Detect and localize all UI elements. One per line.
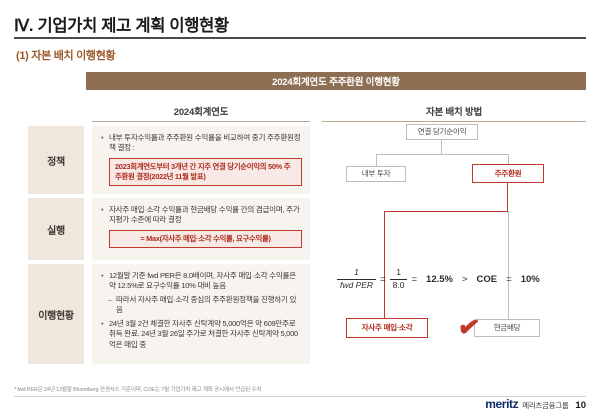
row-label-status: 이행현황 <box>28 264 84 364</box>
bullet-subtext: 따라서 자사주 매입·소각 중심의 주주환원정책을 진행하기 있음 <box>100 295 302 316</box>
equals-sign-3: = <box>506 274 512 285</box>
column-header-left: 2024회계연도 <box>92 104 310 122</box>
value-buyback-yield: 12.5% <box>426 274 453 285</box>
formula-row: 1 fwd PER = 1 8.0 = 12.5% > COE = 10% <box>337 262 573 296</box>
fraction2-numerator: 1 <box>393 268 404 278</box>
section-banner: 2024회계연도 주주환원 이행현황 <box>86 72 586 90</box>
bullet-text: 24년 3월 2건 체결한 자사주 신탁계약 5,000억은 약 609만주로 … <box>100 319 302 350</box>
capital-allocation-diagram: 연결 당기순이익 내부 투자 주주환원 자사주 매입·소각 현금배당 <box>322 106 586 376</box>
node-shareholder-return: 주주환원 <box>472 164 544 183</box>
content-box-execution: 자사주 매입·소각 수익률과 현금배당 수익률 간의 겸급이며, 주가 지평가 … <box>92 198 310 260</box>
content-box-status: 12월말 기준 fwd PER은 8.0배이며, 자사주 매입·소각 수익률은 … <box>92 264 310 364</box>
page-title: Ⅳ. 기업가치 제고 계획 이행현황 <box>14 12 229 36</box>
connector-horizontal-return <box>384 211 508 212</box>
connector-horizontal-split <box>376 154 508 155</box>
bullet-text: 12월말 기준 fwd PER은 8.0배이며, 자사주 매입·소각 수익률은 … <box>100 271 302 292</box>
checkmark-icon: ✔ <box>456 311 482 345</box>
highlight-box: = Max(자사주 매입·소각 수익률, 요구수익률) <box>109 230 302 248</box>
node-retained-earnings: 연결 당기순이익 <box>406 124 478 140</box>
fraction-numeric: 1 8.0 <box>390 268 408 291</box>
label-coe: COE <box>477 274 498 285</box>
connector-vertical-top <box>441 140 442 154</box>
fraction2-denominator: 8.0 <box>390 281 408 291</box>
highlight-box: 2023회계연도부터 3개년 간 지주 연결 당기순이익의 50% 주주환원 결… <box>109 158 302 186</box>
column-header-left-rule <box>92 121 310 122</box>
node-cash-dividend: 현금배당 <box>474 319 540 337</box>
row-label-execution: 실행 <box>28 198 84 260</box>
fraction-fwd-per: 1 fwd PER <box>337 268 376 291</box>
connector-vertical-dividend <box>508 211 509 243</box>
logo-korean-text: 메리츠금융그룹 <box>522 400 568 411</box>
column-header-left-label: 2024회계연도 <box>174 107 229 118</box>
node-buyback-cancel: 자사주 매입·소각 <box>346 318 428 338</box>
connector-vertical-left <box>376 154 377 166</box>
bullet-text: 내부 투자수익률과 주주환원 수익률을 비교하여 중기 주주환원정책 결정 : <box>100 133 302 154</box>
bullet-text: 자사주 매입·소각 수익률과 현금배당 수익률 간의 겸급이며, 주가 지평가 … <box>100 205 302 226</box>
equals-sign-2: = <box>411 274 417 285</box>
connector-vertical-buyback <box>384 211 385 243</box>
title-divider <box>14 37 586 39</box>
section-subtitle: (1) 자본 배치 이행현황 <box>16 47 115 63</box>
logo-meritz-text: meritz <box>485 397 518 411</box>
fraction-denominator: fwd PER <box>337 281 376 291</box>
row-label-policy: 정책 <box>28 126 84 194</box>
page-number: 10 <box>575 400 586 411</box>
greater-than-sign: > <box>462 274 468 285</box>
footer-logo: meritz 메리츠금융그룹 10 <box>485 397 586 411</box>
node-internal-investment: 내부 투자 <box>346 166 406 182</box>
value-coe: 10% <box>521 274 540 285</box>
fraction-numerator: 1 <box>351 268 362 278</box>
footnote: * fwd PER은 24년 12월말 Bloomberg 컨센서스 기준이며,… <box>14 385 261 393</box>
connector-vertical-return <box>507 183 508 211</box>
content-box-policy: 내부 투자수익률과 주주환원 수익률을 비교하여 중기 주주환원정책 결정 : … <box>92 126 310 194</box>
equals-sign-1: = <box>380 274 386 285</box>
